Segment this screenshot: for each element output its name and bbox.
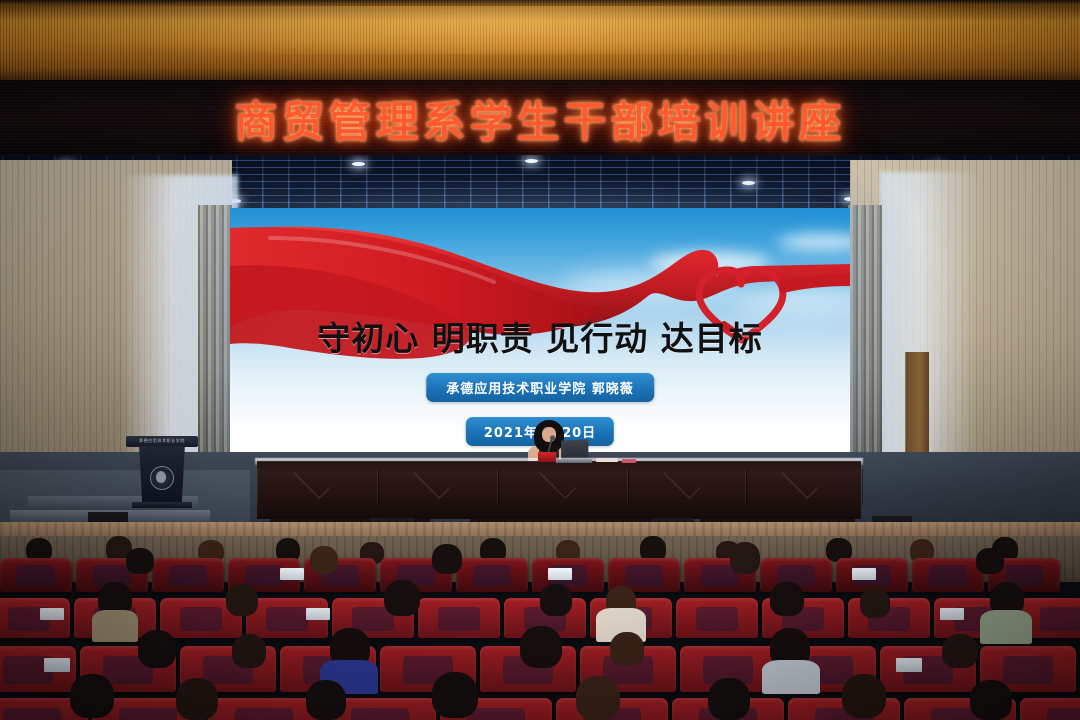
auditorium-seat[interactable] [1020,698,1080,720]
audience-torso [762,660,820,694]
audience-head [520,626,562,668]
audience-head [860,588,890,618]
auditorium-seat[interactable] [0,558,72,592]
audience-head [730,542,760,574]
podium-base [132,502,192,508]
seat-tablet-desk[interactable] [280,568,304,580]
seat-tablet-desk[interactable] [40,608,64,620]
laptop-keyboard [556,459,592,463]
audience-head [576,676,620,720]
downlight-icon [352,162,365,166]
seat-tablet-desk[interactable] [896,658,922,672]
audience-head [942,634,978,668]
audience-head [842,674,886,718]
school-emblem-icon [150,466,174,490]
audience-head [432,544,462,574]
audience-head [226,584,258,616]
slide-author-badge: 承德应用技术职业学院 郭晓薇 [426,373,654,402]
presentation-screen: 守初心 明职责 见行动 达目标 承德应用技术职业学院 郭晓薇 2021年5月20… [230,208,850,455]
audience-head [70,674,114,718]
auditorium-seat[interactable] [418,598,500,638]
slide-title: 守初心 明职责 见行动 达目标 [230,312,850,360]
podium-nameplate: 承德应用技术职业学院 [126,438,198,444]
seat-tablet-desk[interactable] [548,568,572,580]
audience-head [770,582,804,616]
audience-head [138,630,176,668]
podium-lectern: 承德应用技术职业学院 [126,436,198,506]
red-box-item [538,452,556,462]
audience-head [232,634,266,668]
audience-area [0,536,1080,720]
paper-item [596,458,618,462]
audience-head [610,632,644,666]
downlight-icon [742,181,755,185]
audience-head [970,680,1012,720]
auditorium-scene: 商贸管理系学生干部培训讲座 [0,0,1080,720]
led-banner-text: 商贸管理系学生干部培训讲座 [0,88,1080,150]
auditorium-seat[interactable] [152,558,224,592]
seat-tablet-desk[interactable] [44,658,70,672]
auditorium-seat[interactable] [456,558,528,592]
audience-head [432,672,478,718]
seat-tablet-desk[interactable] [306,608,330,620]
seat-tablet-desk[interactable] [940,608,964,620]
podium-top-surface: 承德应用技术职业学院 [126,436,198,447]
audience-torso [92,610,138,642]
audience-head [384,580,420,616]
audience-head [540,584,572,616]
audience-head [126,548,154,574]
audience-head [176,678,218,720]
audience-head [306,680,346,720]
auditorium-seat[interactable] [912,558,984,592]
amber-ceiling-band [0,0,1080,82]
auditorium-seat[interactable] [208,698,320,720]
auditorium-seat[interactable] [676,598,758,638]
audience-head [310,546,338,574]
audience-head [708,678,750,720]
downlight-icon [525,159,538,163]
conference-table [257,461,861,519]
audience-head [976,548,1004,574]
seat-tablet-desk[interactable] [852,568,876,580]
audience-torso [980,610,1032,644]
led-banner: 商贸管理系学生干部培训讲座 [0,80,1080,158]
paper-item [622,459,636,463]
